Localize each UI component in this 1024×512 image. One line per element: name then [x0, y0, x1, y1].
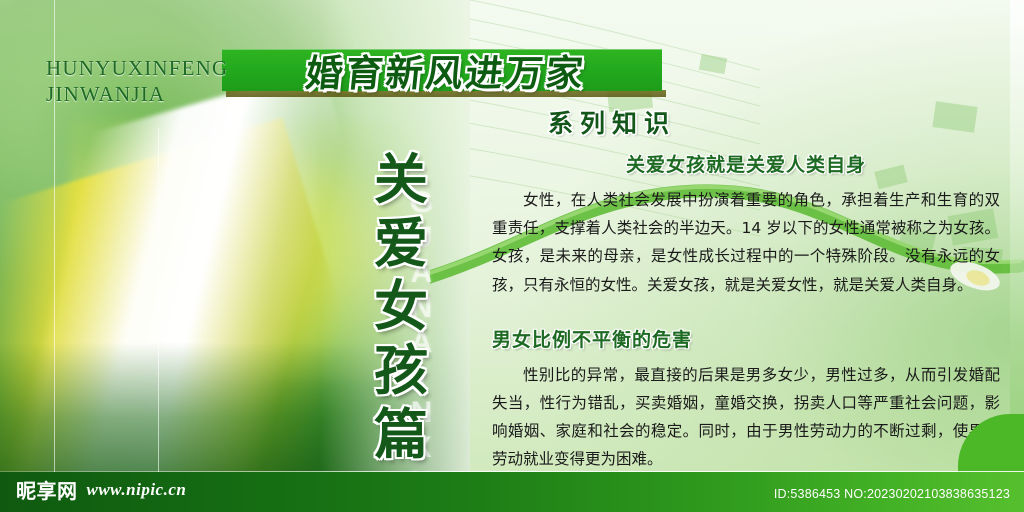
section-2: 男女比例不平衡的危害 性别比的异常，最直接的后果是男多女少，男性过多，从而引发婚… [492, 325, 1000, 474]
nipic-watermark: 昵享网 www.nipic.cn [16, 475, 186, 504]
vertical-title: 关 爱 女 孩 篇 [358, 148, 444, 467]
section-body-1: 女性，在人类社会发展中扮演着重要的角色，承担着生产和生育的双重责任，支撑着人类社… [492, 186, 1000, 299]
vertical-title-char: 篇 [374, 403, 428, 467]
subtitle: 系列知识 [548, 104, 676, 140]
site-url: www.nipic.cn [87, 480, 187, 500]
section-heading-2: 男女比例不平衡的危害 [492, 325, 1000, 352]
vertical-title-char: 女 [374, 275, 428, 339]
site-name-cn: 昵享网 [16, 475, 78, 504]
poster-canvas: 婚育新风进万家 系列知识 HUNYUXINFENG JINWANJIA GUAN… [0, 0, 1024, 512]
vertical-title-char: 爱 [374, 212, 428, 276]
content-column: 关爱女孩就是关爱人类自身 女性，在人类社会发展中扮演着重要的角色，承担着生产和生… [492, 150, 1000, 474]
section-body-2: 性别比的异常，最直接的后果是男多女少，男性过多，从而引发婚配失当，性行为错乱，买… [492, 361, 1000, 474]
vertical-title-char: 关 [374, 148, 428, 212]
pinyin-line-1: HUNYUXINFENG [46, 55, 228, 81]
right-edge-highlight [1010, 0, 1024, 472]
section-heading-1: 关爱女孩就是关爱人类自身 [492, 150, 1000, 177]
vertical-hairline [158, 128, 159, 512]
pinyin-line-2: JINWANJIA [46, 81, 228, 107]
image-id-text: ID:5386453 NO:20230202103838635123 [774, 487, 1010, 501]
pinyin-block: HUNYUXINFENG JINWANJIA [46, 55, 228, 108]
vertical-title-char: 孩 [374, 339, 428, 403]
footer-bar: 昵享网 www.nipic.cn ID:5386453 NO:202302021… [0, 472, 1024, 512]
main-title: 婚育新风进万家 [233, 44, 658, 96]
